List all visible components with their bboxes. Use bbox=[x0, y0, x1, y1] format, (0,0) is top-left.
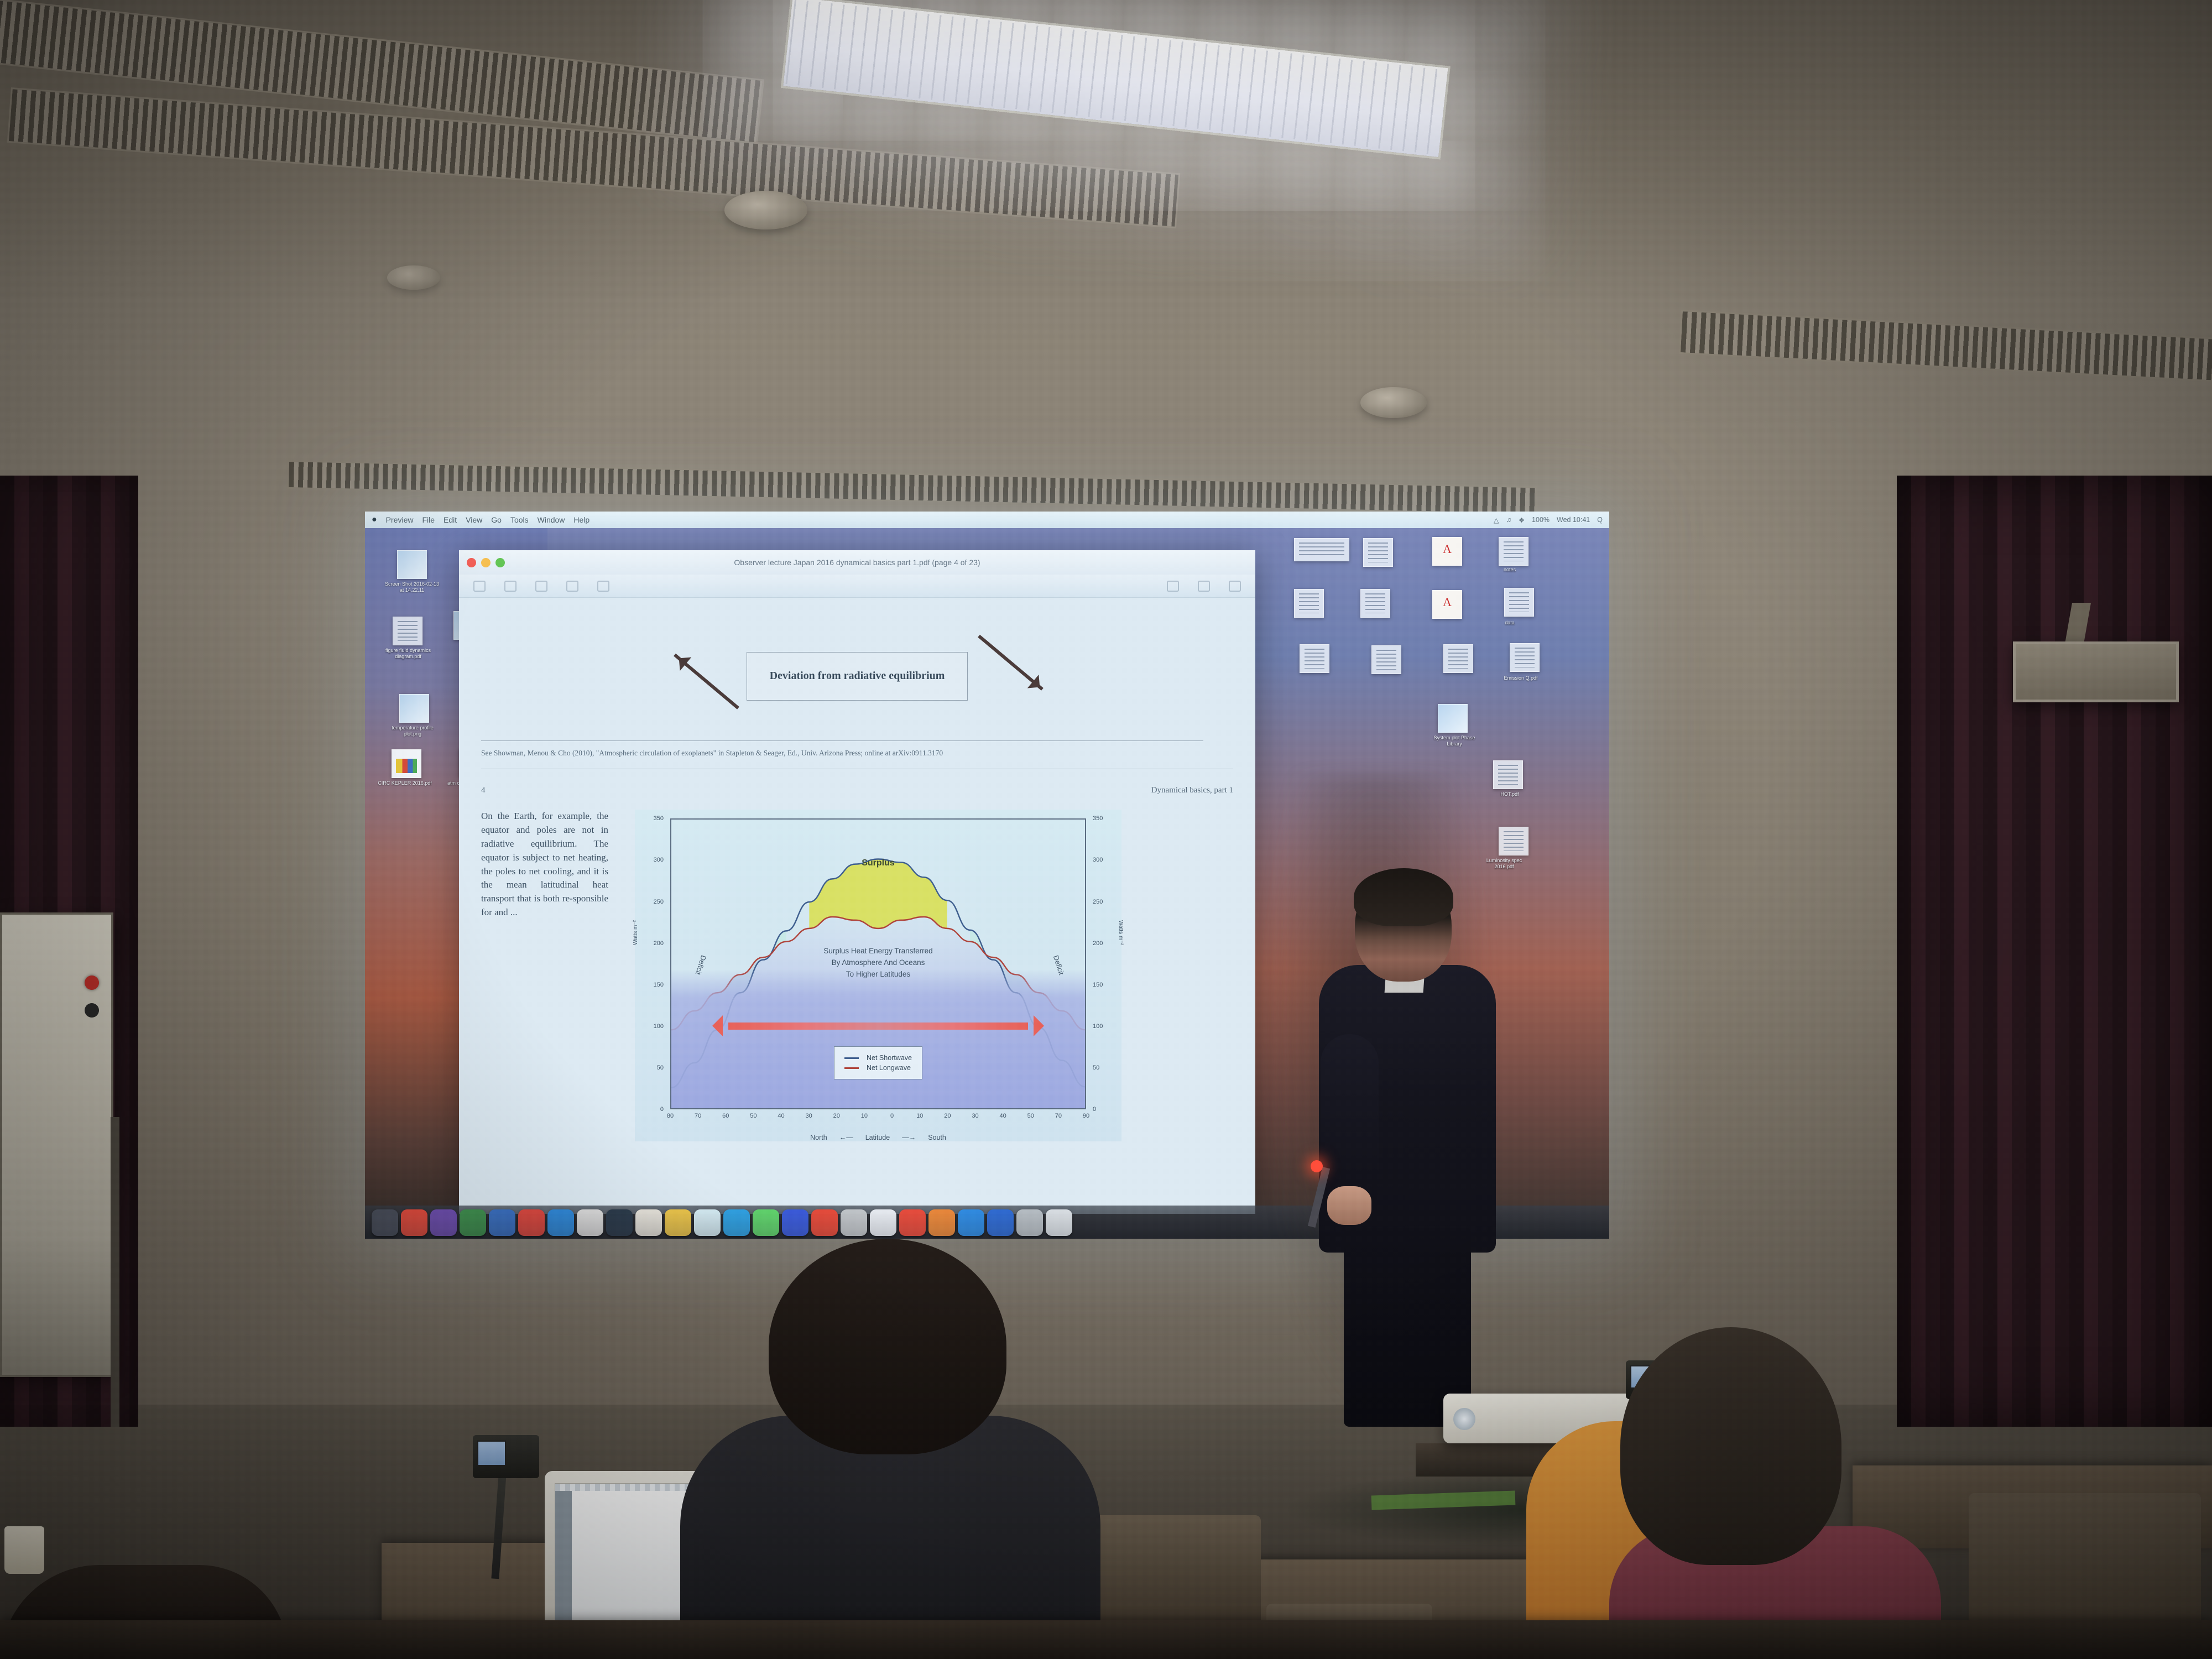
desktop-icon-screenshot-2[interactable] bbox=[393, 617, 422, 645]
menu-item-edit[interactable]: Edit bbox=[444, 515, 457, 524]
x-tick-11: 30 bbox=[972, 1113, 978, 1119]
legend-label-shortwave: Net Shortwave bbox=[867, 1054, 912, 1062]
desktop-icon-screenshot-1[interactable] bbox=[397, 550, 427, 579]
search-icon[interactable] bbox=[1229, 581, 1241, 592]
share-icon[interactable] bbox=[1167, 581, 1179, 592]
arrow-right-icon: —→ bbox=[902, 1134, 916, 1141]
transfer-line-2: By Atmosphere And Oceans bbox=[823, 957, 932, 969]
dock-icon-8[interactable] bbox=[577, 1209, 603, 1236]
audience-head bbox=[769, 1239, 1006, 1454]
y-tick-l-50: 50 bbox=[657, 1065, 664, 1071]
desktop-icon-label: Screen Shot 2016-02-13 at 14.22.11 bbox=[384, 581, 440, 593]
slide-header: 4 Dynamical basics, part 1 bbox=[481, 786, 1233, 795]
smoke-detector bbox=[1360, 387, 1427, 418]
desktop-icon-label: notes bbox=[1482, 567, 1537, 573]
dock-icon-18[interactable] bbox=[870, 1209, 896, 1236]
x-axis-direction-south: South bbox=[928, 1134, 946, 1141]
footnote-region: See Showman, Menou & Cho (2010), "Atmosp… bbox=[481, 740, 1203, 759]
transfer-line-3: To Higher Latitudes bbox=[823, 969, 932, 980]
x-tick-7: 10 bbox=[861, 1113, 868, 1119]
wifi-icon[interactable]: △ bbox=[1494, 516, 1499, 524]
cabinet-pole bbox=[111, 1117, 119, 1427]
dock-icon-15[interactable] bbox=[782, 1209, 808, 1236]
legend-swatch-longwave bbox=[844, 1067, 859, 1069]
menu-item-window[interactable]: Window bbox=[538, 515, 565, 524]
desktop-icon-file-3[interactable] bbox=[1432, 537, 1462, 566]
x-tick-2: 60 bbox=[722, 1113, 729, 1119]
desktop-icon-chart-1[interactable] bbox=[392, 749, 421, 778]
legend-entry-shortwave: Net Shortwave bbox=[844, 1054, 912, 1062]
menu-item-file[interactable]: File bbox=[422, 515, 435, 524]
callout-box: Deviation from radiative equilibrium bbox=[747, 652, 968, 701]
dock-icon-1[interactable] bbox=[372, 1209, 398, 1236]
dock-icon-11[interactable] bbox=[665, 1209, 691, 1236]
desktop-icon-label: System plot Phase Library bbox=[1427, 735, 1482, 747]
pdf-page: Deviation from radiative equilibrium See… bbox=[459, 598, 1255, 1214]
presenter bbox=[1288, 868, 1521, 1421]
arrow-left-icon: ←— bbox=[839, 1134, 853, 1141]
menu-item-go[interactable]: Go bbox=[491, 515, 502, 524]
audience-head bbox=[1620, 1327, 1841, 1565]
desktop-icon-file-15[interactable] bbox=[1499, 827, 1528, 855]
video-camera-primary[interactable] bbox=[473, 1435, 539, 1478]
radiation-balance-chart: 350300250200150100500 350300250200150100… bbox=[635, 810, 1121, 1141]
page-number: 4 bbox=[481, 786, 486, 795]
y-tick-r-150: 150 bbox=[1093, 982, 1103, 988]
window-titlebar[interactable]: Observer lecture Japan 2016 dynamical ba… bbox=[459, 550, 1255, 575]
menu-item-help[interactable]: Help bbox=[573, 515, 589, 524]
y-axis-label-right: Watts m⁻² bbox=[1118, 920, 1124, 945]
slide-body-text: On the Earth, for example, the equator a… bbox=[481, 810, 608, 1141]
legend-swatch-shortwave bbox=[844, 1057, 859, 1059]
paper-cup[interactable] bbox=[4, 1526, 44, 1574]
desktop-icon-file-7[interactable] bbox=[1432, 590, 1462, 619]
ceiling-light-fixture bbox=[781, 0, 1451, 160]
preview-window[interactable]: Observer lecture Japan 2016 dynamical ba… bbox=[459, 550, 1255, 1214]
desktop-icon-file-8[interactable] bbox=[1504, 588, 1534, 617]
legend-entry-longwave: Net Longwave bbox=[844, 1064, 912, 1072]
volume-icon[interactable]: ♫ bbox=[1506, 516, 1511, 524]
desktop-icon-label: CIRC KEPLER 2016.pdf bbox=[377, 780, 432, 786]
chair-center[interactable] bbox=[1084, 1515, 1261, 1626]
dock-icon-19[interactable] bbox=[899, 1209, 926, 1236]
arrow-left-icon bbox=[674, 654, 739, 709]
dock-icon-24[interactable] bbox=[1046, 1209, 1072, 1236]
bluetooth-icon[interactable]: ❖ bbox=[1519, 516, 1525, 524]
desktop-icon-preview-thumb[interactable] bbox=[399, 694, 429, 723]
dock-icon-17[interactable] bbox=[841, 1209, 867, 1236]
laser-dot-icon bbox=[1311, 1160, 1323, 1172]
dock-icon-2[interactable] bbox=[401, 1209, 427, 1236]
equipment-cabinet[interactable] bbox=[0, 912, 113, 1377]
x-tick-1: 70 bbox=[695, 1113, 701, 1119]
y-tick-r-300: 300 bbox=[1093, 857, 1103, 863]
dock-icon-20[interactable] bbox=[928, 1209, 955, 1236]
presenter-hair bbox=[1354, 868, 1453, 926]
desktop-icon-file-14[interactable] bbox=[1493, 760, 1523, 789]
y-tick-l-200: 200 bbox=[654, 940, 664, 947]
x-tick-6: 20 bbox=[833, 1113, 840, 1119]
menu-item-tools[interactable]: Tools bbox=[510, 515, 529, 524]
y-tick-r-100: 100 bbox=[1093, 1023, 1103, 1030]
y-axis-right: 350300250200150100500 bbox=[1088, 818, 1121, 1109]
projector-lens-icon bbox=[1453, 1408, 1475, 1430]
macos-menubar: ● Preview File Edit View Go Tools Window… bbox=[365, 512, 1609, 528]
smoke-detector bbox=[724, 191, 807, 229]
desktop-icon-label: Emission Q.pdf bbox=[1493, 675, 1548, 681]
dock-icon-9[interactable] bbox=[606, 1209, 633, 1236]
y-tick-l-100: 100 bbox=[654, 1023, 664, 1030]
desktop-icon-file-11[interactable] bbox=[1443, 644, 1473, 673]
x-axis-caption: North ←— Latitude —→ South bbox=[635, 1134, 1121, 1141]
desktop-icon-file-10[interactable] bbox=[1371, 645, 1401, 674]
dock-icon-22[interactable] bbox=[987, 1209, 1014, 1236]
x-tick-12: 40 bbox=[999, 1113, 1006, 1119]
laptop-screen-sidebar bbox=[555, 1491, 572, 1622]
lecture-hall-room: ● Preview File Edit View Go Tools Window… bbox=[0, 0, 2212, 1659]
y-tick-r-0: 0 bbox=[1093, 1106, 1096, 1113]
x-tick-15: 90 bbox=[1083, 1113, 1089, 1119]
apple-logo-icon[interactable]: ● bbox=[372, 515, 377, 525]
menu-item-preview[interactable]: Preview bbox=[386, 515, 414, 524]
y-axis-label-left: Watts m⁻² bbox=[633, 920, 639, 945]
lamp-louver bbox=[785, 0, 1446, 155]
dock-icon-7[interactable] bbox=[547, 1209, 574, 1236]
dock-icon-3[interactable] bbox=[430, 1209, 457, 1236]
cabinet-red-button[interactable] bbox=[85, 975, 99, 990]
x-tick-0: 80 bbox=[667, 1113, 674, 1119]
legend-label-longwave: Net Longwave bbox=[867, 1064, 911, 1072]
y-tick-r-200: 200 bbox=[1093, 940, 1103, 947]
transfer-line-1: Surplus Heat Energy Transferred bbox=[823, 946, 932, 957]
y-tick-r-250: 250 bbox=[1093, 899, 1103, 905]
y-tick-r-350: 350 bbox=[1093, 815, 1103, 822]
x-axis: 8070605040302010010203040507090 bbox=[670, 1113, 1086, 1125]
desk-front-row bbox=[0, 1620, 2212, 1659]
y-tick-r-50: 50 bbox=[1093, 1065, 1099, 1071]
plot-area: Surplus Deficit Deficit Surplus Heat Ene… bbox=[670, 818, 1086, 1109]
desktop-icon-label: data bbox=[1482, 620, 1537, 626]
desktop-icon-label: temperature profile plot.png bbox=[385, 725, 440, 737]
dock-icon-14[interactable] bbox=[753, 1209, 779, 1236]
dock-icon-16[interactable] bbox=[811, 1209, 838, 1236]
annotate-icon[interactable] bbox=[1198, 581, 1210, 592]
clock[interactable]: Wed 10:41 bbox=[1557, 516, 1590, 524]
x-tick-3: 50 bbox=[750, 1113, 757, 1119]
desktop-icon-file-4[interactable] bbox=[1499, 537, 1528, 566]
audience-member-center bbox=[680, 1239, 1100, 1659]
heat-transport-double-arrow-icon bbox=[702, 1019, 1055, 1033]
y-tick-l-350: 350 bbox=[654, 815, 664, 822]
desktop-icon-file-6[interactable] bbox=[1360, 589, 1390, 618]
cabinet-black-knob[interactable] bbox=[85, 1003, 99, 1018]
y-tick-l-300: 300 bbox=[654, 857, 664, 863]
dock-icon-12[interactable] bbox=[694, 1209, 721, 1236]
footnote-text: See Showman, Menou & Cho (2010), "Atmosp… bbox=[481, 748, 1203, 759]
battery-percent[interactable]: 100% bbox=[1532, 516, 1550, 524]
wall-speaker bbox=[2013, 641, 2179, 702]
x-tick-5: 30 bbox=[806, 1113, 812, 1119]
slide-body: On the Earth, for example, the equator a… bbox=[481, 810, 1233, 1141]
dock-icon-4[interactable] bbox=[460, 1209, 486, 1236]
arrow-head-left-icon bbox=[702, 1015, 723, 1036]
ceiling-speaker bbox=[387, 265, 440, 290]
chart-legend: Net Shortwave Net Longwave bbox=[834, 1046, 922, 1079]
arrow-right-icon bbox=[978, 635, 1044, 691]
window-title: Observer lecture Japan 2016 dynamical ba… bbox=[459, 558, 1255, 567]
desktop-icon-file-2[interactable] bbox=[1363, 538, 1393, 567]
arrow-head-right-icon bbox=[1034, 1015, 1055, 1036]
heat-transfer-annotation: Surplus Heat Energy Transferred By Atmos… bbox=[823, 946, 932, 980]
menubar-status-area: △ ♫ ❖ 100% Wed 10:41 Q bbox=[1494, 516, 1603, 524]
camera-lcd-screen bbox=[477, 1441, 506, 1466]
y-tick-l-0: 0 bbox=[660, 1106, 664, 1113]
callout-region: Deviation from radiative equilibrium bbox=[481, 612, 1233, 728]
menu-item-view[interactable]: View bbox=[466, 515, 482, 524]
x-tick-8: 0 bbox=[890, 1113, 894, 1119]
x-tick-13: 50 bbox=[1027, 1113, 1034, 1119]
x-axis-label: Latitude bbox=[865, 1134, 890, 1141]
spotlight-icon[interactable]: Q bbox=[1597, 516, 1603, 524]
presenter-hand bbox=[1327, 1186, 1371, 1225]
surplus-label: Surplus bbox=[862, 858, 895, 868]
x-tick-9: 10 bbox=[916, 1113, 923, 1119]
dock-icon-23[interactable] bbox=[1016, 1209, 1043, 1236]
audience-member-right bbox=[1526, 1327, 1924, 1659]
arrow-bar bbox=[728, 1022, 1028, 1030]
y-tick-l-150: 150 bbox=[654, 982, 664, 988]
chart-container: 350300250200150100500 350300250200150100… bbox=[625, 810, 1233, 1141]
x-tick-10: 20 bbox=[944, 1113, 951, 1119]
curtain-right bbox=[1897, 476, 2212, 1427]
ceiling bbox=[0, 0, 2212, 310]
rotate-icon[interactable] bbox=[597, 581, 609, 592]
desktop-icon-file-13[interactable] bbox=[1438, 704, 1468, 733]
y-axis-left: 350300250200150100500 bbox=[635, 818, 668, 1109]
desktop-icon-file-12[interactable] bbox=[1510, 643, 1540, 672]
zoom-in-icon[interactable] bbox=[535, 581, 547, 592]
desktop-icon-label: figure fluid dynamics diagram.pdf bbox=[380, 648, 436, 660]
desktop-icon-file-9[interactable] bbox=[1300, 644, 1329, 673]
dock-icon-10[interactable] bbox=[635, 1209, 662, 1236]
x-tick-4: 40 bbox=[778, 1113, 784, 1119]
sidebar-toggle-icon[interactable] bbox=[473, 581, 486, 592]
markup-icon[interactable] bbox=[566, 581, 578, 592]
x-tick-14: 70 bbox=[1055, 1113, 1062, 1119]
dock-icon-5[interactable] bbox=[489, 1209, 515, 1236]
y-tick-l-250: 250 bbox=[654, 899, 664, 905]
desktop-icon-file-5[interactable] bbox=[1294, 589, 1324, 618]
slide-header-title: Dynamical basics, part 1 bbox=[1151, 786, 1233, 795]
page-divider bbox=[481, 769, 1233, 769]
window-toolbar[interactable] bbox=[459, 575, 1255, 598]
desktop-icon-file-1[interactable] bbox=[1294, 538, 1349, 561]
dock-icon-13[interactable] bbox=[723, 1209, 750, 1236]
x-axis-direction-north: North bbox=[810, 1134, 827, 1141]
dock-icon-21[interactable] bbox=[958, 1209, 984, 1236]
zoom-out-icon[interactable] bbox=[504, 581, 517, 592]
dock-icon-6[interactable] bbox=[518, 1209, 545, 1236]
